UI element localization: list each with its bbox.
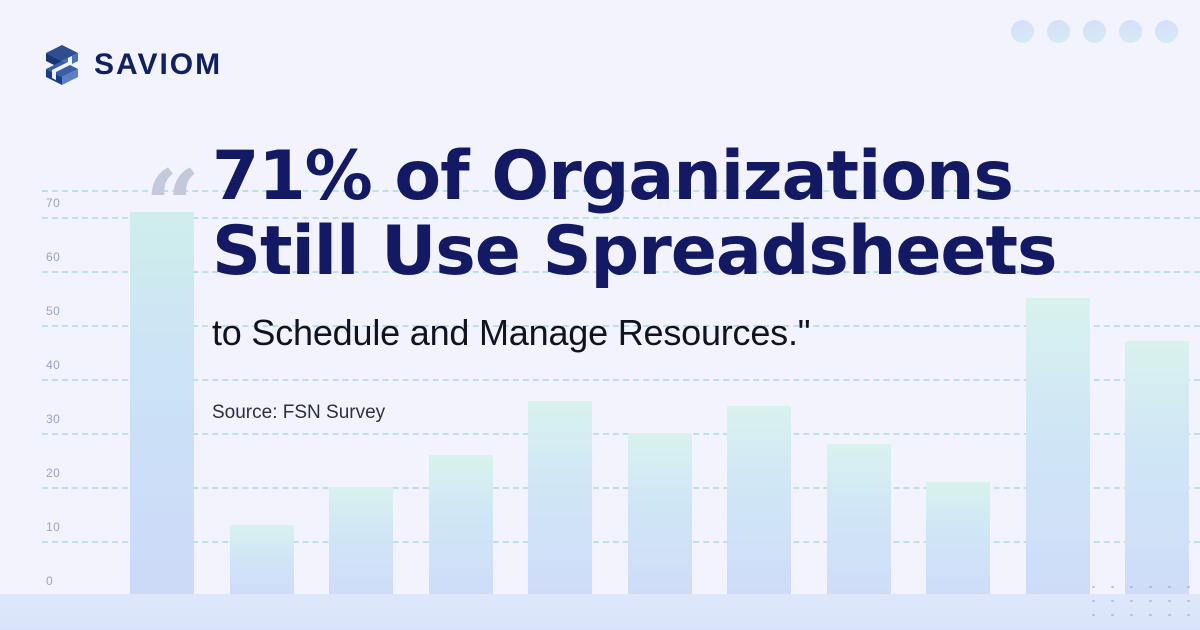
chart-bar [528, 401, 592, 595]
chart-bar [230, 525, 294, 595]
chart-bar [727, 406, 791, 595]
y-axis-tick-label: 60 [46, 250, 60, 264]
brand-name: SAVIOM [94, 48, 222, 82]
chart-bar [429, 455, 493, 595]
y-axis-tick-label: 0 [46, 574, 53, 588]
headline-line-2: Still Use Spreadsheets [212, 215, 1140, 290]
chart-bar [827, 444, 891, 595]
y-axis-tick-label: 30 [46, 412, 60, 426]
headline-line-1: 71% of Organizations [212, 140, 1140, 215]
y-axis-tick-label: 40 [46, 358, 60, 372]
decorative-dot [1047, 20, 1070, 43]
chart-bar [329, 487, 393, 595]
decorative-dot [1155, 20, 1178, 43]
decorative-dot [1011, 20, 1034, 43]
decorative-dots-top-right [1011, 20, 1178, 43]
y-axis-tick-label: 20 [46, 466, 60, 480]
y-axis-tick-label: 10 [46, 520, 60, 534]
y-axis-tick-label: 50 [46, 304, 60, 318]
decorative-dot-grid [1084, 580, 1192, 624]
chart-bar [926, 482, 990, 595]
saviom-s-logo-icon [42, 44, 82, 86]
page-title: 71% of Organizations Still Use Spreadshe… [212, 140, 1140, 290]
decorative-dot [1119, 20, 1142, 43]
y-axis-tick-label: 70 [46, 196, 60, 210]
bottom-band [0, 594, 1200, 630]
decorative-dot [1083, 20, 1106, 43]
chart-bar [628, 433, 692, 595]
brand-logo[interactable]: SAVIOM [42, 44, 222, 86]
subtitle: to Schedule and Manage Resources." [212, 312, 1140, 354]
quote-mark-icon: “ [145, 158, 200, 254]
quote-block: “ 71% of Organizations Still Use Spreads… [140, 140, 1140, 424]
source-attribution: Source: FSN Survey [212, 402, 1140, 424]
